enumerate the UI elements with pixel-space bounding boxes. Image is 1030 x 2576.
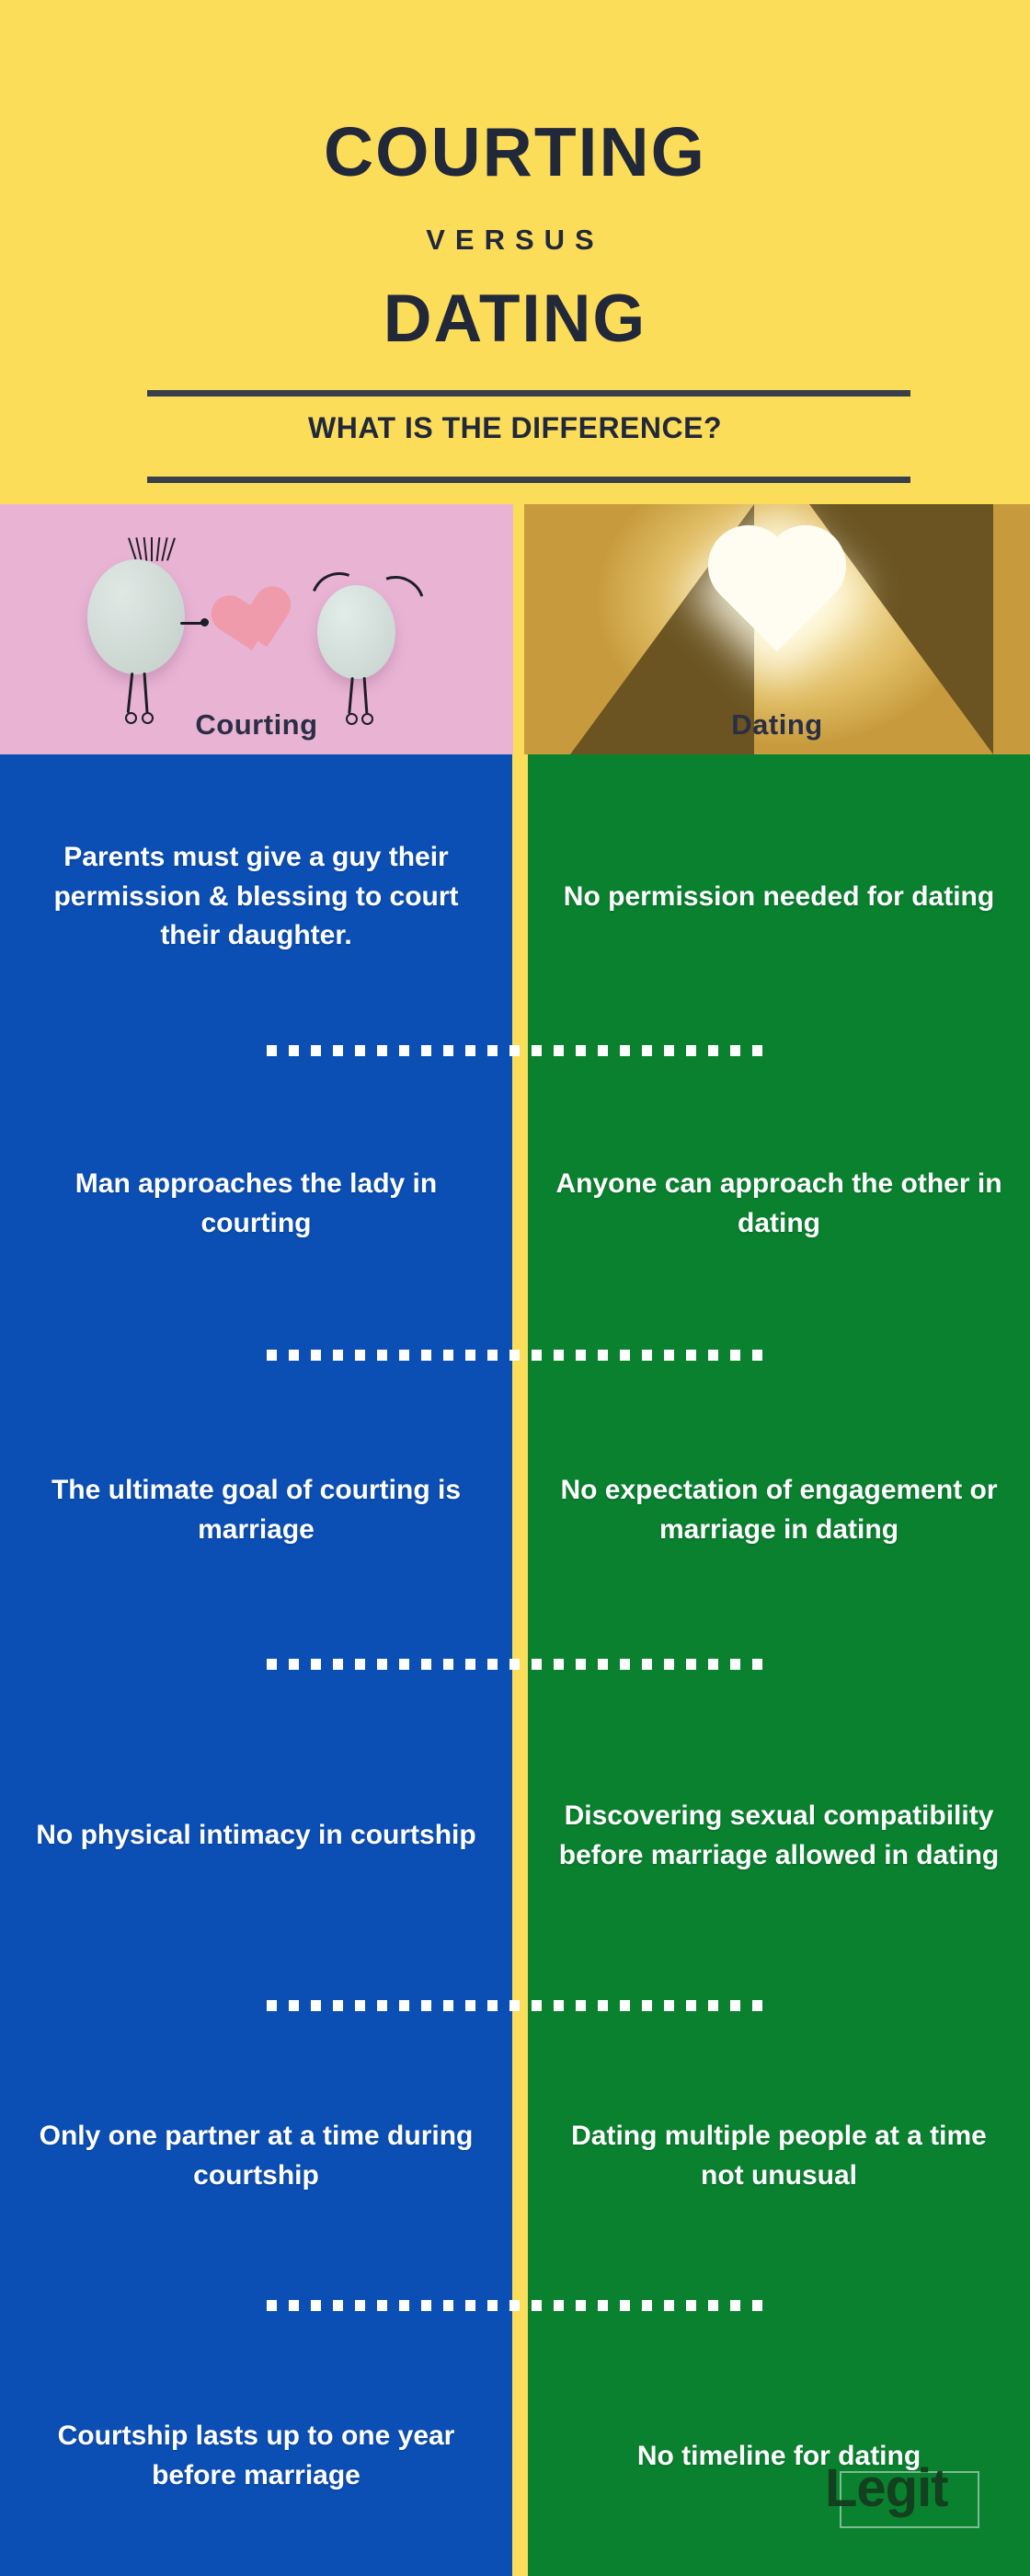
- row-separator: [0, 2294, 1030, 2318]
- comparison-body: Parents must give a guy their permission…: [0, 754, 1030, 2576]
- comparison-row: Man approaches the lady in courtingAnyon…: [0, 1064, 1030, 1344]
- row-divider-gap: [512, 754, 528, 1040]
- row-divider-gap: [512, 1064, 528, 1344]
- courting-cell: Man approaches the lady in courting: [0, 1064, 512, 1344]
- title-versus-label: VERSUS: [426, 225, 603, 254]
- stone-hand-left: [200, 618, 209, 627]
- dating-cell: No expectation of engagement or marriage…: [528, 1368, 1030, 1653]
- stone-leg-left-b: [143, 673, 148, 713]
- header-rule-bottom: [147, 477, 910, 483]
- courting-photo: Courting: [0, 504, 513, 754]
- paper-heart-icon: [190, 564, 274, 642]
- dashed-line: [267, 1350, 763, 1361]
- comparison-row: The ultimate goal of courting is marriag…: [0, 1368, 1030, 1653]
- dashed-line: [267, 2300, 763, 2311]
- comparison-row: Courtship lasts up to one year before ma…: [0, 2318, 1030, 2576]
- courting-cell: The ultimate goal of courting is marriag…: [0, 1368, 512, 1653]
- dating-column-label: Dating: [524, 708, 1030, 742]
- row-divider-gap: [512, 1368, 528, 1653]
- courting-cell: Only one partner at a time during courts…: [0, 2018, 512, 2294]
- image-band: Courting Dating: [0, 504, 1030, 754]
- page-subtitle: DATING: [383, 285, 647, 352]
- dating-cell: Anyone can approach the other in dating: [528, 1064, 1030, 1344]
- dashed-line: [267, 1045, 763, 1056]
- comparison-row: Only one partner at a time during courts…: [0, 2018, 1030, 2294]
- dashed-line: [267, 1659, 763, 1670]
- dating-photo: Dating: [524, 504, 1030, 754]
- dating-cell: Dating multiple people at a time not unu…: [528, 2018, 1030, 2294]
- comparison-rows: Parents must give a guy their permission…: [0, 754, 1030, 2576]
- courting-cell: Parents must give a guy their permission…: [0, 754, 512, 1040]
- row-divider-gap: [512, 1677, 528, 1995]
- courting-cell: No physical intimacy in courtship: [0, 1677, 512, 1995]
- comparison-row: No physical intimacy in courtshipDiscove…: [0, 1677, 1030, 1995]
- header-rule-top: [147, 390, 910, 397]
- header-question: WHAT IS THE DIFFERENCE?: [0, 411, 1030, 445]
- row-separator: [0, 1995, 1030, 2018]
- page-title: COURTING: [324, 118, 706, 187]
- dating-cell: Discovering sexual compatibility before …: [528, 1677, 1030, 1995]
- row-separator: [0, 1653, 1030, 1677]
- dating-cell: No permission needed for dating: [528, 754, 1030, 1040]
- dating-cell: No timeline for dating: [528, 2318, 1030, 2576]
- stone-character-left: [87, 559, 185, 674]
- dashed-line: [267, 2000, 763, 2011]
- stone-leg-left-a: [127, 673, 134, 713]
- row-separator: [0, 1344, 1030, 1368]
- legit-watermark: Legit: [840, 2471, 979, 2528]
- courting-cell: Courtship lasts up to one year before ma…: [0, 2318, 512, 2576]
- infographic-header: COURTING VERSUS DATING WHAT IS THE DIFFE…: [0, 0, 1030, 504]
- row-divider-gap: [512, 2318, 528, 2576]
- row-separator: [0, 1040, 1030, 1064]
- stone-hair-icon: [132, 537, 179, 561]
- courting-column-label: Courting: [0, 708, 513, 742]
- row-divider-gap: [512, 2018, 528, 2294]
- comparison-row: Parents must give a guy their permission…: [0, 754, 1030, 1040]
- watermark-text: Legit: [825, 2462, 948, 2515]
- infographic-page: COURTING VERSUS DATING WHAT IS THE DIFFE…: [0, 0, 1030, 2576]
